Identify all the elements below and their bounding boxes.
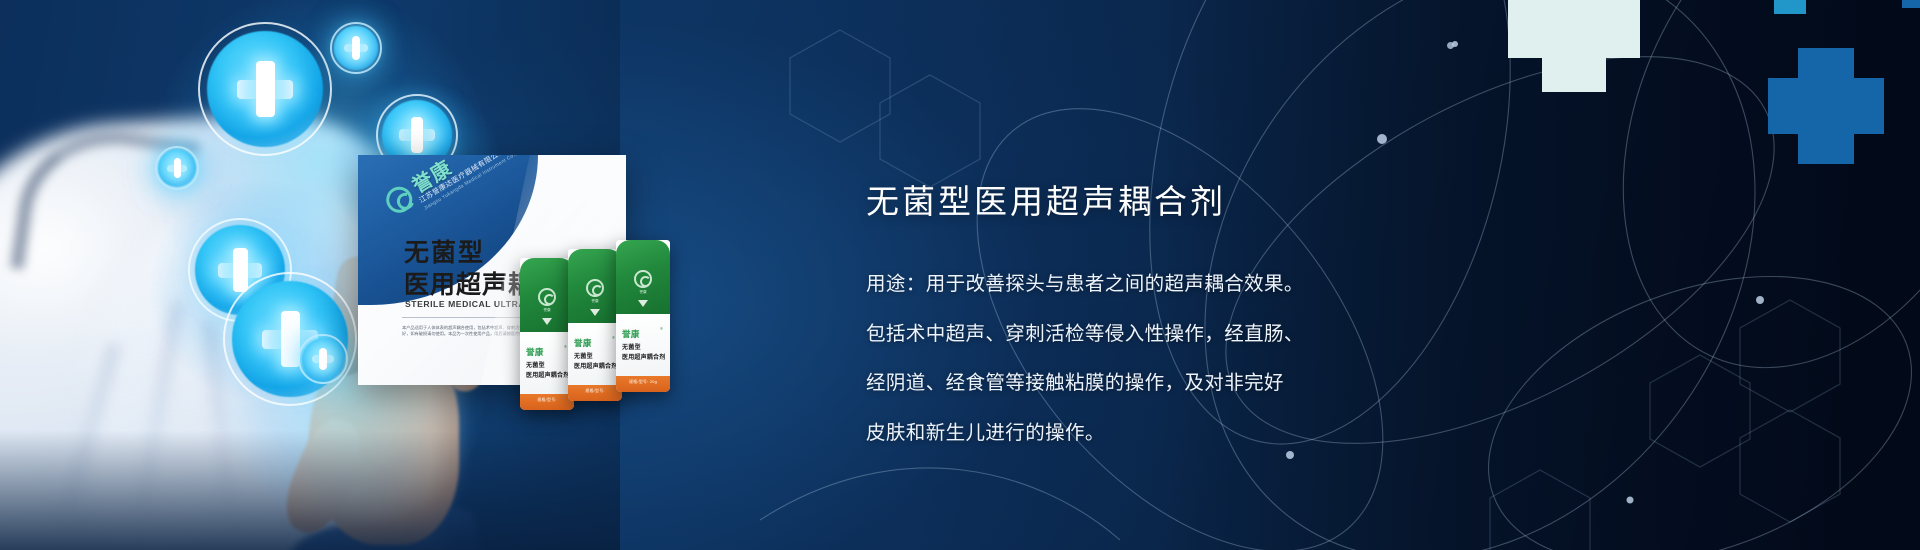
tear-notch-icon bbox=[590, 309, 600, 316]
glowing-cross-small-b bbox=[155, 146, 199, 190]
sachet: 誉康 誉康 ® 无菌型 医用超声耦合剂 规格/型号: bbox=[568, 249, 622, 401]
sachet: 誉康 誉康 ® 无菌型 医用超声耦合剂 规格/型号: 20g bbox=[616, 240, 670, 392]
sachet-brand: 誉康 bbox=[526, 346, 544, 358]
description-line-4: 皮肤和新生儿进行的操作。 bbox=[866, 418, 1486, 448]
sachet-registered-mark: ® bbox=[612, 335, 615, 340]
sachet-spec-strip: 规格/型号: 20g bbox=[616, 376, 670, 392]
spiral-logo-icon bbox=[586, 279, 604, 297]
flat-cross-blue-small bbox=[1880, 0, 1920, 50]
spiral-logo-icon bbox=[634, 270, 652, 288]
description-line-2: 包括术中超声、穿刺活检等侵入性操作，经直肠、 bbox=[866, 319, 1486, 349]
sachet-group: 誉康 誉康 ® 无菌型 医用超声耦合剂 规格/型号: 誉康 誉康 ® 无菌型 bbox=[520, 240, 680, 410]
sachet-name-line2: 医用超声耦合剂 bbox=[622, 352, 665, 361]
sachet-name-line2: 医用超声耦合剂 bbox=[574, 361, 617, 370]
sachet: 誉康 誉康 ® 无菌型 医用超声耦合剂 规格/型号: bbox=[520, 258, 574, 410]
glowing-cross-large bbox=[198, 22, 332, 156]
sachet-spec: 规格/型号: bbox=[520, 397, 574, 403]
sachet-registered-mark: ® bbox=[660, 326, 663, 331]
description-line-3: 经阴道、经食管等接触粘膜的操作，及对非完好 bbox=[866, 368, 1486, 398]
sachet-top-brand: 誉康 bbox=[639, 290, 646, 295]
sachet-spec: 规格/型号: bbox=[568, 388, 622, 394]
flat-cross-blue-large bbox=[1740, 48, 1920, 238]
glowing-cross-small-c bbox=[298, 334, 348, 384]
sachet-name-line2: 医用超声耦合剂 bbox=[526, 370, 569, 379]
sachet-name-line1: 无菌型 bbox=[622, 342, 641, 351]
banner-copy: 无菌型医用超声耦合剂 用途：用于改善探头与患者之间的超声耦合效果。 包括术中超声… bbox=[866, 175, 1486, 467]
description-line-1: 用途：用于改善探头与患者之间的超声耦合效果。 bbox=[866, 269, 1486, 299]
tear-notch-icon bbox=[638, 300, 648, 307]
sachet-top-brand: 誉康 bbox=[591, 299, 598, 304]
sachet-name-line1: 无菌型 bbox=[574, 351, 593, 360]
sachet-spec: 规格/型号: 20g bbox=[616, 379, 670, 385]
sachet-brand: 誉康 bbox=[574, 337, 592, 349]
sachet-registered-mark: ® bbox=[564, 344, 567, 349]
box-title-line1: 无菌型 bbox=[404, 233, 485, 269]
sachet-spec-strip: 规格/型号: bbox=[520, 394, 574, 410]
tear-notch-icon bbox=[542, 318, 552, 325]
sachet-spec-strip: 规格/型号: bbox=[568, 385, 622, 401]
product-hero-banner: 誉康 江苏誉康达医疗器械有限公司 Jiangsu Yukangda Medica… bbox=[0, 0, 1920, 550]
sachet-name-line1: 无菌型 bbox=[526, 360, 545, 369]
sachet-brand: 誉康 bbox=[622, 328, 640, 340]
flat-cross-mint bbox=[1474, 0, 1674, 160]
sachet-top-brand: 誉康 bbox=[543, 308, 550, 313]
sachet-body: 誉康 ® 无菌型 医用超声耦合剂 bbox=[568, 323, 622, 385]
sachet-body: 誉康 ® 无菌型 医用超声耦合剂 bbox=[520, 332, 574, 394]
spiral-logo-icon bbox=[538, 288, 556, 306]
page-title: 无菌型医用超声耦合剂 bbox=[866, 175, 1486, 223]
decorative-dot bbox=[1447, 42, 1454, 49]
glowing-cross-small-a bbox=[330, 22, 382, 74]
sachet-body: 誉康 ® 无菌型 医用超声耦合剂 bbox=[616, 314, 670, 376]
